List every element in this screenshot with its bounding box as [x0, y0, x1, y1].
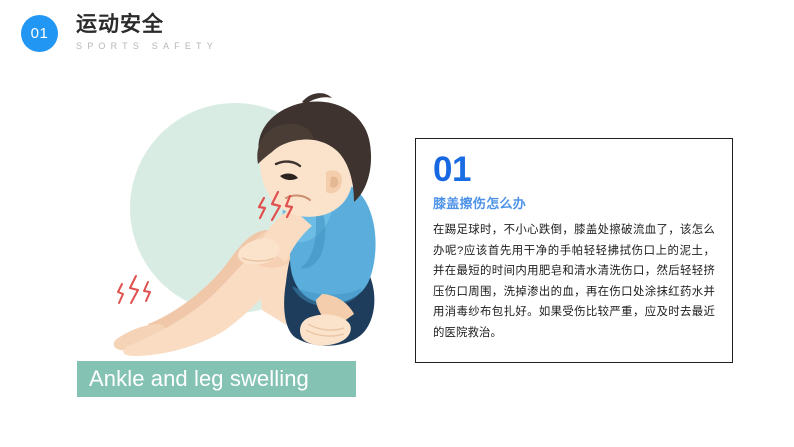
header-title-group: 运动安全 SPORTS SAFETY — [76, 12, 218, 53]
card-number: 01 — [433, 151, 715, 189]
slide-header: 01 运动安全 SPORTS SAFETY — [0, 0, 794, 70]
caption-band-label: Ankle and leg swelling — [77, 366, 309, 392]
card-subtitle: 膝盖擦伤怎么办 — [433, 194, 715, 214]
illustration-boy-injured-knee — [110, 80, 400, 360]
step-number-badge: 01 — [21, 15, 58, 52]
caption-band: Ankle and leg swelling — [77, 361, 356, 397]
content-card: 01 膝盖擦伤怎么办 在踢足球时，不小心跌倒，膝盖处擦破流血了，该怎么办呢?应该… — [415, 138, 733, 363]
page-title: 运动安全 — [76, 12, 218, 38]
card-body-text: 在踢足球时，不小心跌倒，膝盖处擦破流血了，该怎么办呢?应该首先用干净的手帕轻轻拂… — [433, 220, 715, 343]
step-number-label: 01 — [31, 25, 49, 42]
ankle-pain-mark — [118, 276, 150, 303]
page-subtitle: SPORTS SAFETY — [76, 39, 218, 53]
